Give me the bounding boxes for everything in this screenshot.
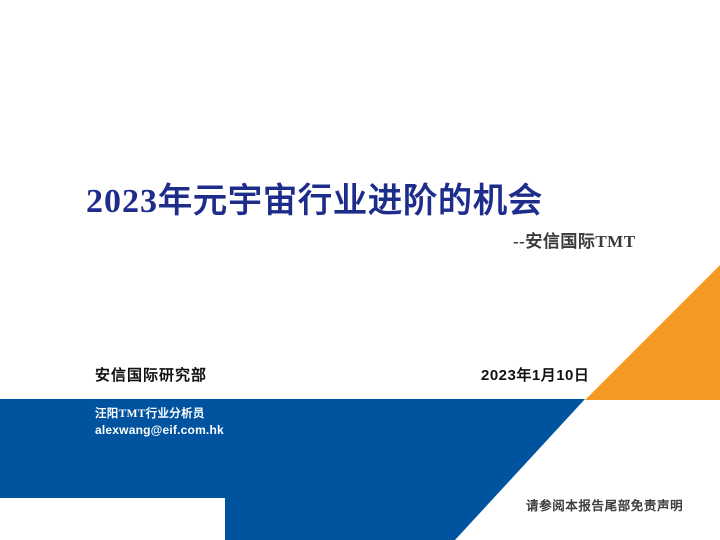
analyst-name-role: 汪阳TMT行业分析员 bbox=[95, 408, 224, 421]
page-title: 2023年元宇宙行业进阶的机会 bbox=[86, 183, 543, 220]
disclaimer-note: 请参阅本报告尾部免责声明 bbox=[526, 500, 683, 514]
blue-banner-decoration bbox=[0, 399, 585, 540]
analyst-email[interactable]: alexwang@eif.com.hk bbox=[95, 424, 224, 437]
report-date: 2023年1月10日 bbox=[481, 368, 589, 385]
decorative-shapes bbox=[0, 0, 720, 540]
title-slide: 2023年元宇宙行业进阶的机会 --安信国际TMT 安信国际研究部 2023年1… bbox=[0, 0, 720, 540]
department-label: 安信国际研究部 bbox=[95, 368, 207, 385]
subtitle: --安信国际TMT bbox=[513, 233, 636, 252]
orange-triangle-decoration bbox=[585, 265, 720, 400]
analyst-info: 汪阳TMT行业分析员 alexwang@eif.com.hk bbox=[95, 408, 224, 437]
